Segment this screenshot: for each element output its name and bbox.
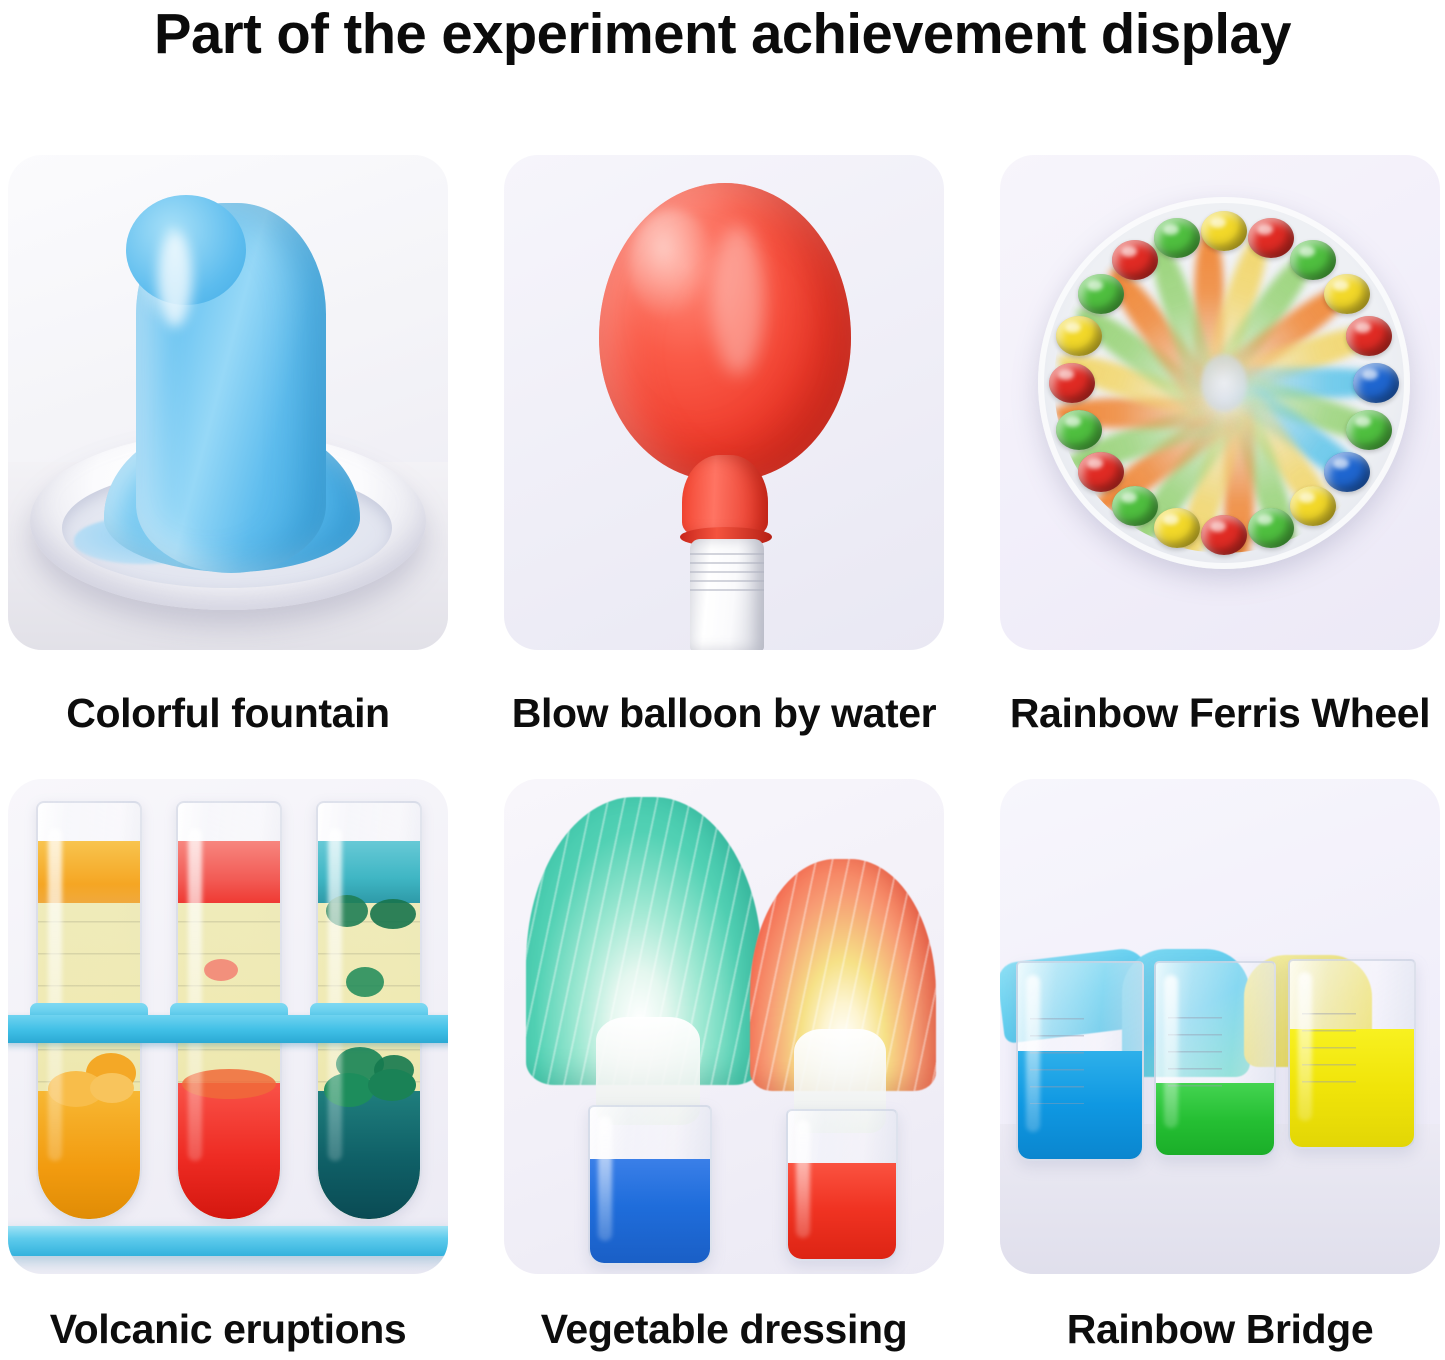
caption-rainbow-ferris-wheel: Rainbow Ferris Wheel	[1000, 652, 1440, 779]
candy-piece	[1346, 410, 1392, 450]
blow-balloon-image	[504, 155, 944, 650]
caption-blow-balloon-by-water: Blow balloon by water	[504, 652, 944, 779]
glass-highlight	[48, 828, 62, 1161]
experiment-card-colorful-fountain[interactable]	[8, 155, 448, 652]
caption-rainbow-bridge: Rainbow Bridge	[1000, 1276, 1440, 1350]
color-blob	[370, 899, 416, 929]
glass-highlight	[1164, 975, 1178, 1129]
candy-piece	[1353, 363, 1399, 403]
candy-piece	[1248, 508, 1294, 548]
balloon-neck	[682, 455, 768, 537]
rack-cross-bar	[8, 1015, 448, 1043]
experiment-card-volcanic-eruptions[interactable]	[8, 779, 448, 1276]
foam-highlight	[158, 231, 192, 327]
cup-blue	[588, 1105, 712, 1265]
candy-piece	[1346, 316, 1392, 356]
candy-piece	[1112, 486, 1158, 526]
candy-piece	[1201, 211, 1247, 251]
candy-piece	[1201, 515, 1247, 555]
color-blob	[368, 1069, 416, 1101]
bottle-threads	[690, 553, 764, 591]
experiment-card-blow-balloon-by-water[interactable]	[504, 155, 944, 652]
color-blob	[346, 967, 384, 997]
vegetable-dressing-image	[504, 779, 944, 1274]
candy-piece	[1078, 274, 1124, 314]
caption-volcanic-eruptions: Volcanic eruptions	[8, 1276, 448, 1350]
candy-piece	[1049, 363, 1095, 403]
infographic-page: Part of the experiment achievement displ…	[0, 0, 1445, 1360]
rainbow-ferris-wheel-image	[1000, 155, 1440, 650]
color-blob	[204, 959, 238, 981]
color-blob	[90, 1073, 134, 1103]
caption-colorful-fountain: Colorful fountain	[8, 652, 448, 779]
colorful-fountain-image	[8, 155, 448, 650]
beaker-yellow	[1288, 959, 1416, 1149]
glass-highlight	[1026, 975, 1040, 1132]
volcanic-eruptions-image	[8, 779, 448, 1274]
experiment-grid: Colorful fountain Blow balloon by water …	[8, 155, 1440, 1350]
beaker-green	[1154, 961, 1276, 1157]
glass-highlight	[328, 828, 342, 1161]
glass-highlight	[188, 828, 202, 1161]
balloon-highlight	[712, 225, 764, 375]
glass-highlight	[1298, 972, 1312, 1121]
cup-red	[786, 1109, 898, 1261]
glass-highlight	[598, 1116, 612, 1241]
beaker-blue	[1016, 961, 1144, 1161]
candy-piece	[1324, 274, 1370, 314]
page-title: Part of the experiment achievement displ…	[11, 2, 1434, 66]
candy-piece	[1290, 486, 1336, 526]
caption-vegetable-dressing: Vegetable dressing	[504, 1276, 944, 1350]
glass-highlight	[796, 1120, 810, 1238]
candy-piece	[1112, 240, 1158, 280]
experiment-card-vegetable-dressing[interactable]	[504, 779, 944, 1276]
rack-base	[8, 1226, 448, 1256]
dish-center	[1201, 354, 1247, 412]
experiment-card-rainbow-ferris-wheel[interactable]	[1000, 155, 1440, 652]
candy-piece	[1154, 508, 1200, 548]
rainbow-bridge-image	[1000, 779, 1440, 1274]
experiment-card-rainbow-bridge[interactable]	[1000, 779, 1440, 1276]
